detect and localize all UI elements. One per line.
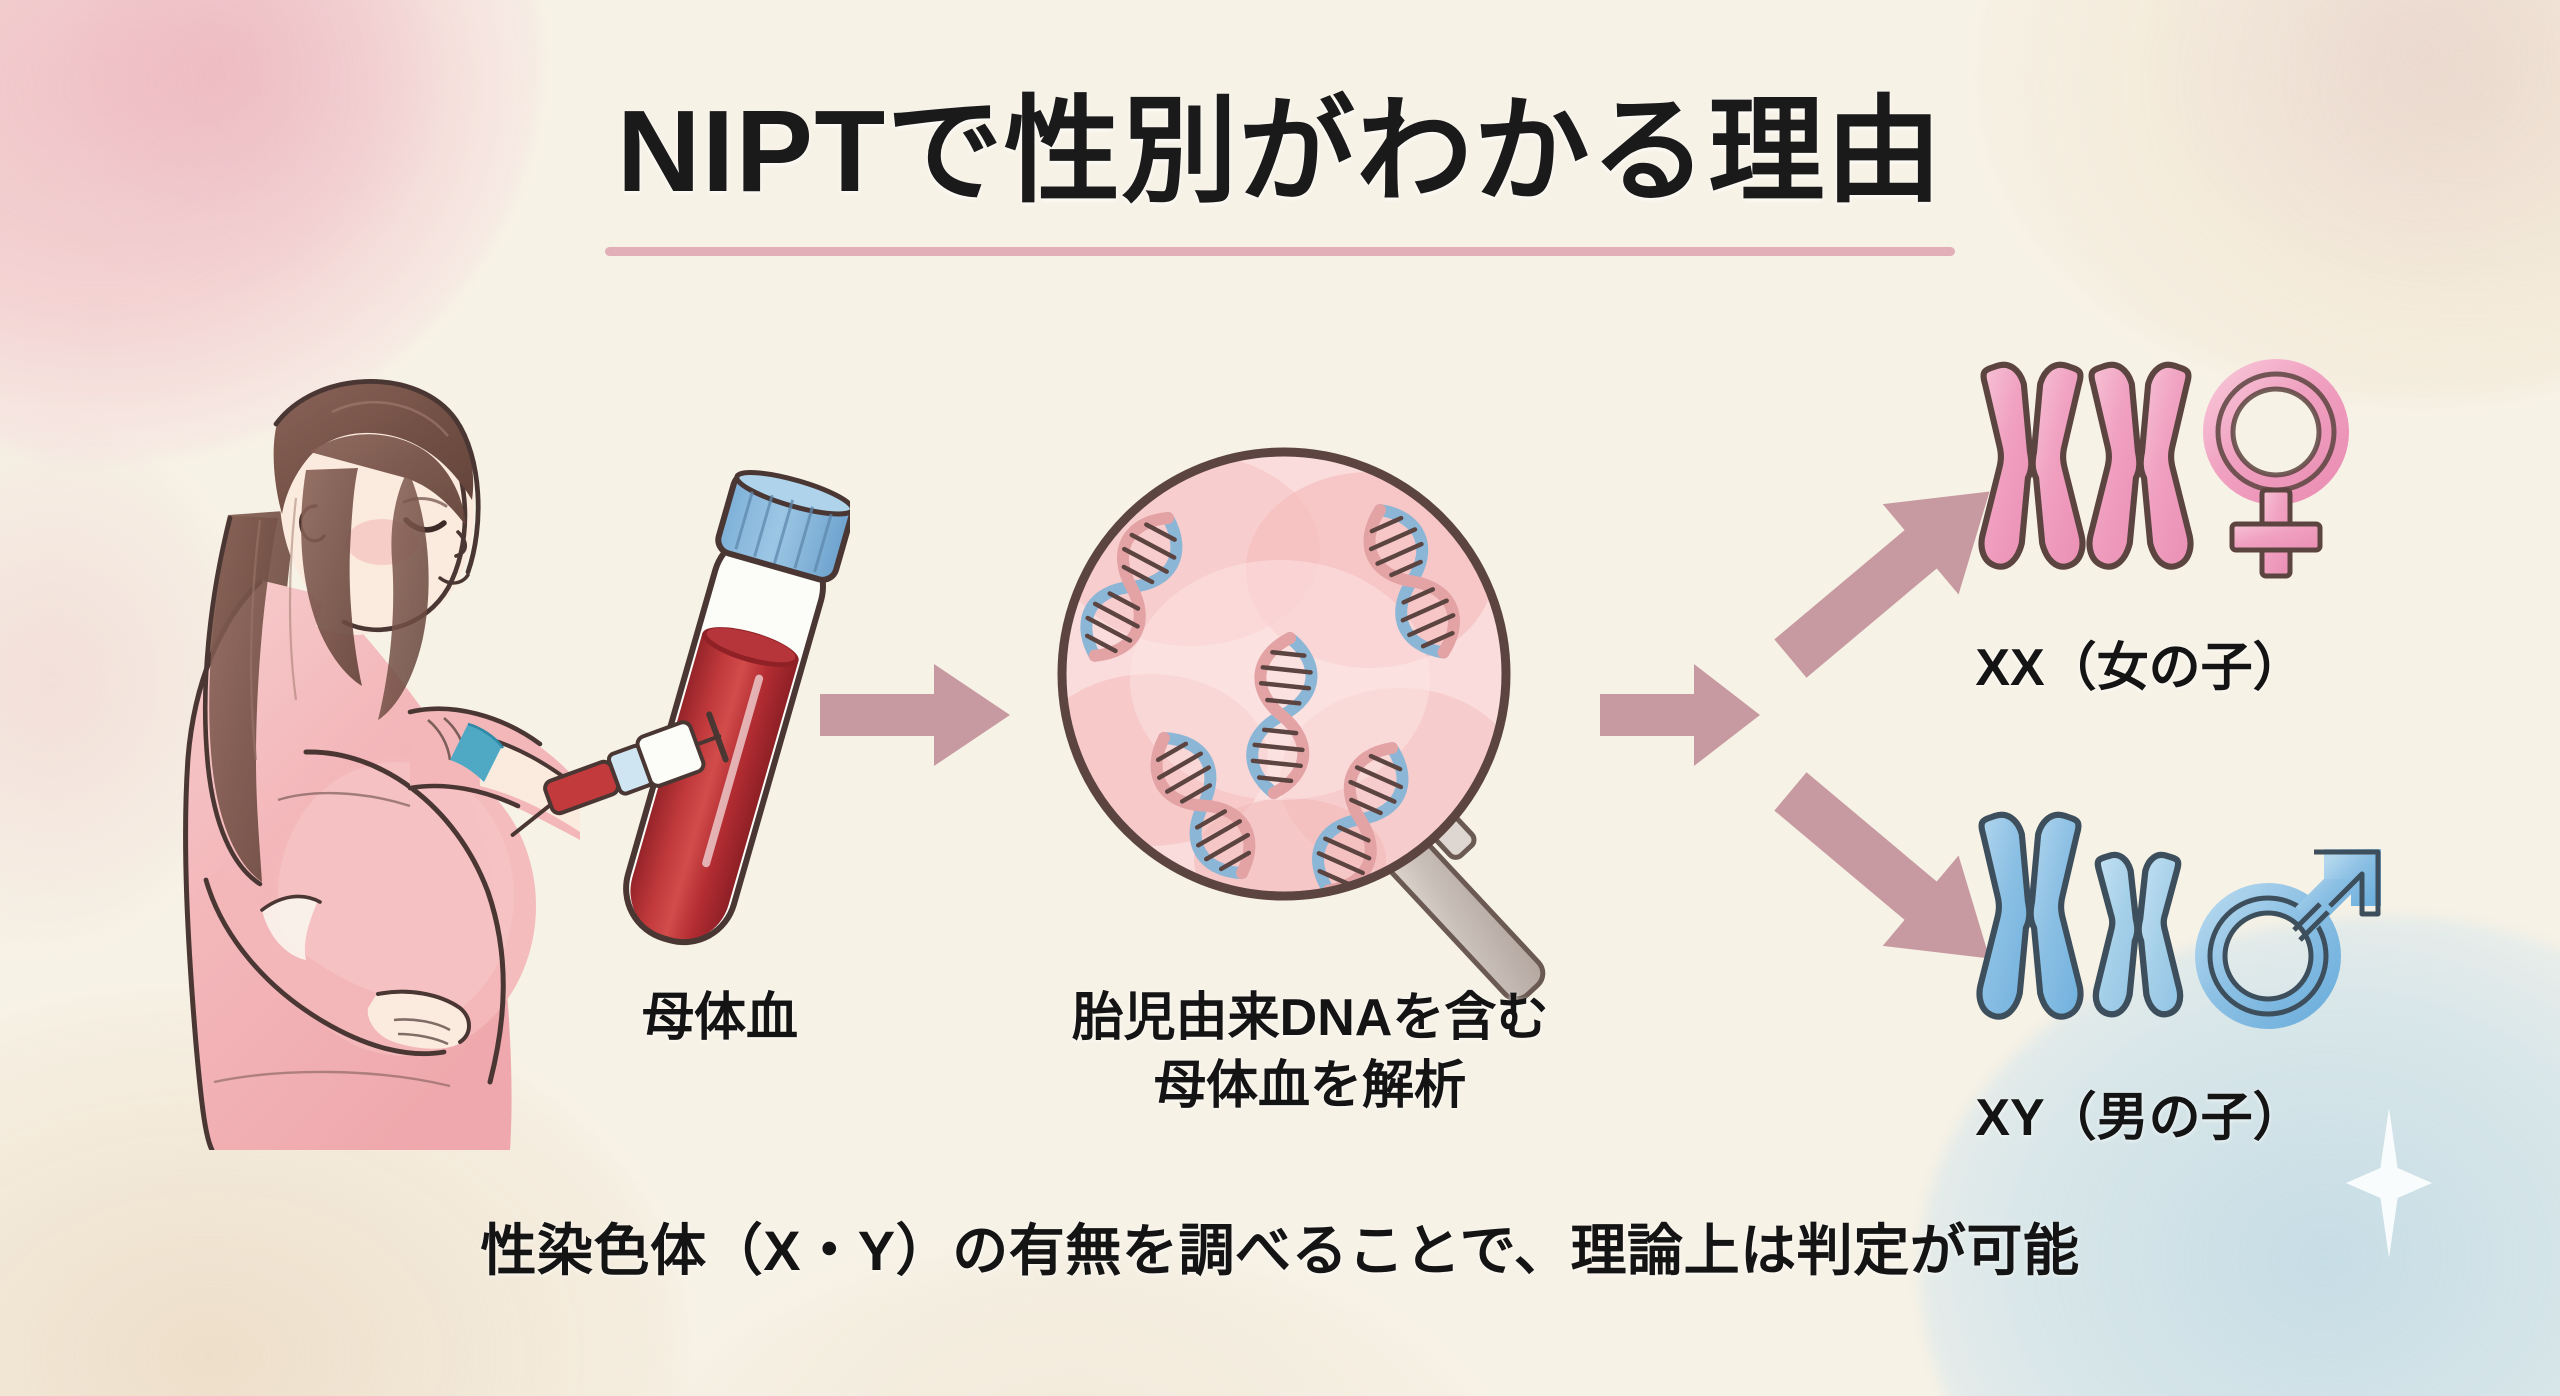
infographic-canvas: NIPTで性別がわかる理由 bbox=[0, 0, 2560, 1396]
xy-chromosome-illustration bbox=[1960, 780, 2390, 1070]
title-underline bbox=[605, 247, 1955, 256]
caption-dna-analysis-line1: 胎児由来DNAを含む bbox=[930, 985, 1690, 1053]
caption-xx-female: XX（女の子） bbox=[1880, 635, 2400, 703]
magnifier-with-dna-illustration bbox=[1040, 430, 1660, 1010]
caption-maternal-blood: 母体血 bbox=[450, 985, 990, 1053]
footer-text: 性染色体（X・Y）の有無を調べることで、理論上は判定が可能 bbox=[0, 1215, 2560, 1288]
caption-dna-analysis-line2: 母体血を解析 bbox=[930, 1053, 1690, 1121]
caption-dna-analysis: 胎児由来DNAを含む 母体血を解析 bbox=[930, 985, 1690, 1120]
xx-chromosome-illustration bbox=[1960, 330, 2380, 620]
syringe-illustration bbox=[490, 690, 730, 860]
arrow-right-2-icon bbox=[1600, 660, 1760, 770]
page-title: NIPTで性別がわかる理由 bbox=[0, 90, 2560, 213]
arrow-right-1-icon bbox=[820, 660, 1010, 770]
caption-xy-male: XY（男の子） bbox=[1880, 1085, 2400, 1153]
title-block: NIPTで性別がわかる理由 bbox=[0, 90, 2560, 256]
